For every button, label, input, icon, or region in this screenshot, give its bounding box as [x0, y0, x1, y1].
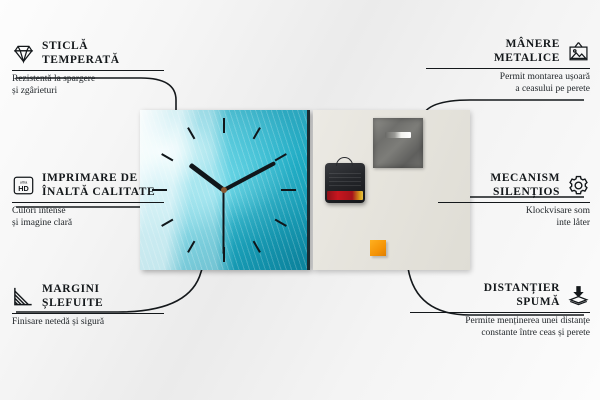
callout-subtitle: Finisare netedă și sigură — [12, 317, 164, 329]
clock-hour-hand — [188, 163, 225, 192]
callout-subtitle: Klockvisare som inte låter — [438, 206, 590, 229]
clock-center-hub — [221, 187, 227, 193]
mechanism-housing-detail — [329, 170, 361, 186]
callout-subtitle: Rezistentă la spargere și zgârieturi — [12, 74, 164, 97]
callout-polished-edges: MARGINI ȘLEFUITE Finisare netedă și sigu… — [12, 283, 164, 329]
metal-hanger-plate — [373, 118, 423, 168]
callout-rule — [12, 313, 164, 314]
callout-silent-mechanism: MECANISM SILENȚIOS Klockvisare som inte … — [438, 172, 590, 229]
callout-title: MARGINI ȘLEFUITE — [42, 283, 103, 310]
clock-dial — [140, 110, 307, 270]
callout-tempered-glass: STICLĂ TEMPERATĂ Rezistentă la spargere … — [12, 40, 164, 97]
svg-text:HD: HD — [18, 184, 29, 193]
aa-battery — [327, 191, 363, 200]
press-down-pad-icon — [567, 284, 590, 307]
diamond-icon — [12, 42, 35, 65]
glass-clock-face — [140, 110, 310, 270]
callout-foam-spacer: DISTANȚIER SPUMĂ Permite menținerea unei… — [410, 282, 590, 339]
callout-rule — [12, 70, 164, 71]
gear-icon — [567, 174, 590, 197]
clock-second-hand — [223, 190, 225, 254]
callout-title: IMPRIMARE DE ÎNALTĂ CALITATE — [42, 172, 155, 199]
callout-title: DISTANȚIER SPUMĂ — [484, 282, 560, 309]
quartz-mechanism-with-battery — [325, 163, 365, 203]
mechanism-hanging-loop — [336, 157, 353, 166]
callout-title: MECANISM SILENȚIOS — [490, 172, 560, 199]
foam-spacer-pad — [370, 240, 386, 256]
infographic-canvas: STICLĂ TEMPERATĂ Rezistentă la spargere … — [0, 0, 600, 400]
clock-product-composite — [140, 110, 470, 270]
callout-title: STICLĂ TEMPERATĂ — [42, 40, 120, 67]
callout-rule — [426, 68, 590, 69]
callout-high-quality-print: ultra HD IMPRIMARE DE ÎNALTĂ CALITATE Cu… — [12, 172, 164, 229]
callout-subtitle: Culori intense și imagine clară — [12, 206, 164, 229]
polished-edge-icon — [12, 285, 35, 308]
callout-rule — [12, 202, 164, 203]
callout-rule — [438, 202, 590, 203]
picture-frame-icon — [567, 40, 590, 63]
callout-title: MÂNERE METALICE — [494, 38, 560, 65]
ultra-hd-icon: ultra HD — [12, 174, 35, 197]
callout-subtitle: Permit montarea ușoară a ceasului pe per… — [426, 72, 590, 95]
callout-metal-handles: MÂNERE METALICE Permit montarea ușoară a… — [426, 38, 590, 95]
callout-rule — [410, 312, 590, 313]
hanger-slot — [385, 132, 411, 138]
callout-subtitle: Permite menținerea unei distanțe constan… — [410, 316, 590, 339]
